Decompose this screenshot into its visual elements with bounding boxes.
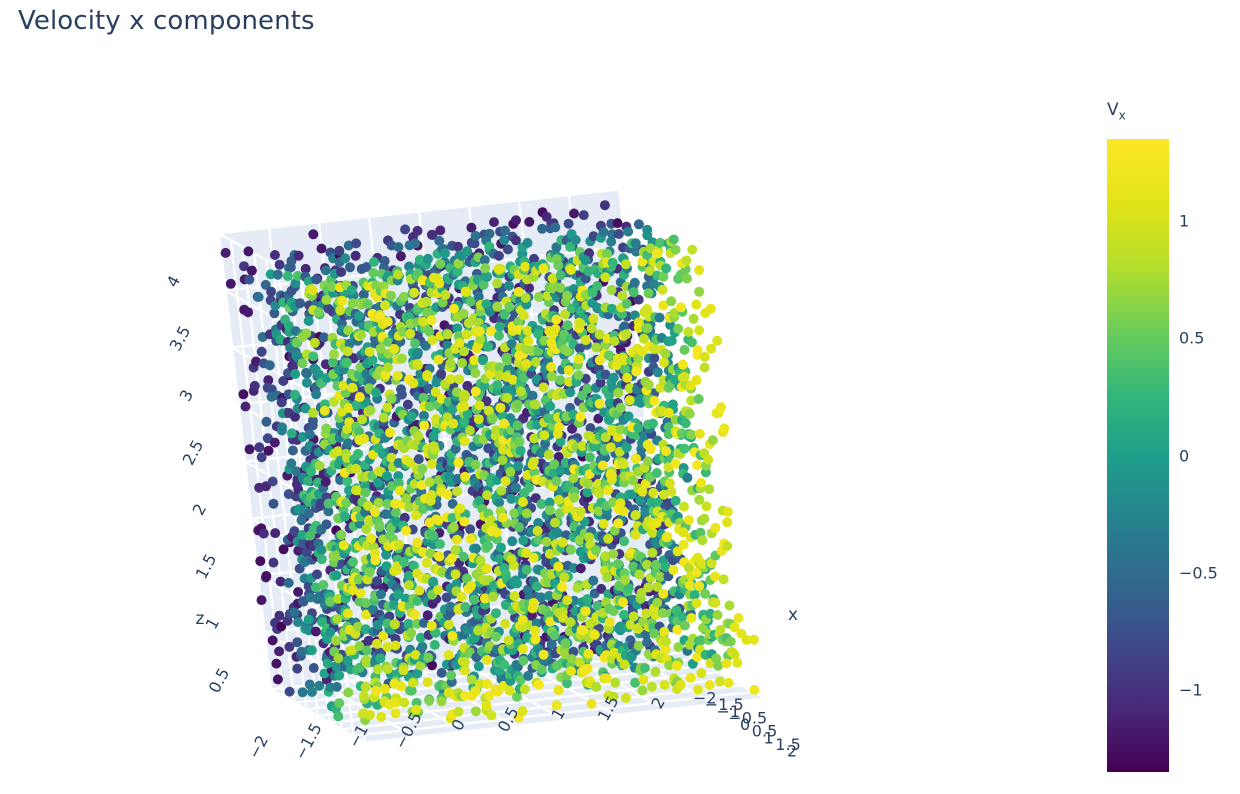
scatter-point	[381, 550, 391, 560]
scatter-point	[631, 510, 641, 520]
scatter-point	[414, 586, 424, 596]
scatter-point	[470, 368, 480, 378]
scatter-point	[391, 508, 401, 518]
scatter-point	[294, 251, 304, 261]
scatter-point	[710, 523, 720, 533]
scatter-point	[485, 229, 495, 239]
scatter-point	[539, 382, 549, 392]
scatter-point	[509, 561, 519, 571]
scatter-point	[396, 251, 406, 261]
scatter-point	[749, 635, 759, 645]
scatter-point	[696, 668, 706, 678]
zaxis-tick-label: 1.5	[192, 551, 221, 582]
zaxis-tick-label: 4	[163, 272, 185, 290]
scatter-point	[410, 238, 420, 248]
scatter-point	[491, 608, 501, 618]
scatter-point	[448, 404, 458, 414]
scatter-point	[591, 343, 601, 353]
scatter-point	[302, 378, 312, 388]
scatter-point	[366, 534, 376, 544]
scatter-point	[284, 578, 294, 588]
scatter-point	[676, 680, 686, 690]
scatter-point	[622, 373, 632, 383]
scatter-point	[471, 544, 481, 554]
scatter-point	[353, 449, 363, 459]
scatter-point	[446, 670, 456, 680]
scatter-point	[598, 461, 608, 471]
scatter-point	[317, 244, 327, 254]
scatter-point	[355, 392, 365, 402]
scatter-point	[564, 365, 574, 375]
scatter-point	[511, 215, 521, 225]
scatter-point	[357, 415, 367, 425]
scatter-point	[466, 534, 476, 544]
scatter-point	[455, 338, 465, 348]
zaxis-tick-label: 2.5	[179, 437, 208, 468]
scatter-point	[347, 383, 357, 393]
scatter-point	[619, 536, 629, 546]
scatter-point	[334, 698, 344, 708]
scatter-point	[365, 710, 375, 720]
scatter-point	[386, 291, 396, 301]
scatter-point	[694, 265, 704, 275]
scatter-point	[503, 244, 513, 254]
scatter-point	[369, 257, 379, 267]
scatter-point	[413, 348, 423, 358]
scatter-point	[444, 650, 454, 660]
scatter-point	[608, 549, 618, 559]
scatter-point	[434, 279, 444, 289]
scatter-point	[521, 359, 531, 369]
scatter-point	[348, 557, 358, 567]
scatter-point	[401, 526, 411, 536]
scatter-point	[365, 567, 375, 577]
scatter-point	[333, 653, 343, 663]
scatter-point	[680, 345, 690, 355]
scatter-point	[435, 539, 445, 549]
scatter-point	[719, 574, 729, 584]
colorbar[interactable]: Vx 10.50−0.5−1	[1107, 100, 1237, 790]
scatter-point	[719, 423, 729, 433]
scatter-point	[529, 457, 539, 467]
scatter-point	[449, 522, 459, 532]
scatter-point	[669, 235, 679, 245]
scatter-point	[510, 591, 520, 601]
scatter-point	[644, 380, 654, 390]
scatter-point	[423, 677, 433, 687]
scatter-point	[434, 355, 444, 365]
scatter-point	[309, 663, 319, 673]
scene-canvas[interactable]: −2−1.5−1−0.500.511.52 −2−1.5−1−0.500.511…	[0, 0, 1080, 794]
scatter-point	[408, 378, 418, 388]
scatter-point	[307, 645, 317, 655]
scatter-point	[646, 444, 656, 454]
xaxis-tick-label: 0	[740, 715, 750, 734]
scatter-point	[588, 314, 598, 324]
scatter-point	[716, 402, 726, 412]
scatter-point	[308, 285, 318, 295]
scatter-point	[423, 610, 433, 620]
scatter-point	[637, 686, 647, 696]
colorbar-gradient[interactable]	[1107, 139, 1169, 772]
scatter-point	[566, 545, 576, 555]
scatter-point	[498, 513, 508, 523]
scatter-point	[643, 456, 653, 466]
scatter-point	[661, 263, 671, 273]
scatter-point	[530, 626, 540, 636]
scatter-point	[283, 271, 293, 281]
scatter-point	[666, 296, 676, 306]
scatter-point	[312, 569, 322, 579]
scatter-point	[661, 349, 671, 359]
zaxis-ticklabels: 0.511.522.533.54	[163, 272, 234, 696]
scatter-point	[459, 401, 469, 411]
scatter-point	[435, 259, 445, 269]
scatter-point	[275, 260, 285, 270]
scatter-point	[545, 401, 555, 411]
scatter-point	[325, 627, 335, 637]
scatter-point	[268, 477, 278, 487]
scatter-point	[318, 580, 328, 590]
scatter-point	[351, 464, 361, 474]
scatter-point	[394, 242, 404, 252]
scatter-point	[243, 307, 253, 317]
scatter-point	[422, 297, 432, 307]
scatter-point	[515, 437, 525, 447]
scatter-point	[706, 304, 716, 314]
scatter-point	[602, 572, 612, 582]
scatter-point	[356, 588, 366, 598]
scatter-point	[678, 360, 688, 370]
scatter-point	[423, 254, 433, 264]
scatter-point	[277, 398, 287, 408]
scatter-point	[533, 526, 543, 536]
scatter-point	[383, 664, 393, 674]
scatter-point	[522, 565, 532, 575]
yaxis-tick-label: −1.5	[291, 720, 326, 763]
scatter-point	[562, 595, 572, 605]
scatter-point	[599, 227, 609, 237]
scatter-point	[340, 253, 350, 263]
scatter-point	[492, 302, 502, 312]
scatter-point	[610, 678, 620, 688]
scatter-point	[469, 355, 479, 365]
scatter-point	[496, 486, 506, 496]
scatter-point	[644, 288, 654, 298]
scatter-point	[563, 320, 573, 330]
scatter-point	[560, 638, 570, 648]
scatter-point	[726, 637, 736, 647]
scatter-point	[422, 558, 432, 568]
scatter-point	[339, 540, 349, 550]
scatter-point	[723, 507, 733, 517]
scatter-point	[531, 634, 541, 644]
scatter-point	[410, 339, 420, 349]
scatter-point	[482, 679, 492, 689]
scatter-point	[298, 358, 308, 368]
scatter-point	[368, 268, 378, 278]
scatter-point	[332, 682, 342, 692]
scatter-point	[603, 534, 613, 544]
zaxis-tick-label: 2	[189, 500, 211, 518]
scatter-point	[539, 650, 549, 660]
scatter-point	[447, 631, 457, 641]
scatter-point	[582, 488, 592, 498]
scatter-point	[356, 330, 366, 340]
scatter-point	[423, 653, 433, 663]
scatter-point	[574, 370, 584, 380]
scatter-point	[694, 325, 704, 335]
scatter-point	[454, 374, 464, 384]
scatter-point	[451, 569, 461, 579]
scatter-point	[682, 473, 692, 483]
scatter-point	[250, 381, 260, 391]
scatter-point	[576, 563, 586, 573]
scatter-point	[266, 287, 276, 297]
scatter-point	[692, 375, 702, 385]
scatter-point	[469, 595, 479, 605]
scatter-point	[496, 543, 506, 553]
scatter-point	[380, 300, 390, 310]
scatter-point	[569, 493, 579, 503]
scatter-point	[385, 428, 395, 438]
scatter-point	[427, 315, 437, 325]
scatter-point	[471, 231, 481, 241]
scatter3d-scene[interactable]: −2−1.5−1−0.500.511.52 −2−1.5−1−0.500.511…	[0, 0, 1080, 794]
scatter-point	[334, 671, 344, 681]
scatter-point	[365, 347, 375, 357]
scatter-point	[452, 486, 462, 496]
colorbar-tick-label: 0.5	[1179, 329, 1204, 348]
scatter-point	[496, 403, 506, 413]
scatter-point	[382, 471, 392, 481]
scatter-point	[631, 367, 641, 377]
scatter-point	[404, 571, 414, 581]
scatter-point	[285, 687, 295, 697]
scatter-point	[322, 519, 332, 529]
scatter-point	[602, 673, 612, 683]
scatter-point	[321, 424, 331, 434]
scatter-point	[261, 571, 271, 581]
scatter-point	[513, 399, 523, 409]
scatter-point	[475, 400, 485, 410]
scatter-point	[372, 639, 382, 649]
scatter-point	[460, 391, 470, 401]
scatter-point	[634, 570, 644, 580]
scatter-point	[375, 520, 385, 530]
scatter-point	[361, 682, 371, 692]
scatter-point	[351, 238, 361, 248]
scatter-point	[489, 217, 499, 227]
scatter-point	[614, 229, 624, 239]
scatter-point	[412, 596, 422, 606]
scatter-point	[655, 313, 665, 323]
scatter-point	[620, 660, 630, 670]
scatter-point	[418, 317, 428, 327]
scatter-point	[588, 576, 598, 586]
scatter-point	[554, 495, 564, 505]
scatter-point	[413, 359, 423, 369]
scatter-point	[459, 517, 469, 527]
scatter-point	[599, 519, 609, 529]
scatter-point	[397, 354, 407, 364]
scatter-point	[425, 477, 435, 487]
scatter-point	[487, 711, 497, 721]
scatter-point	[483, 342, 493, 352]
scatter-point	[257, 595, 267, 605]
scatter-point	[430, 445, 440, 455]
scatter-point	[603, 485, 613, 495]
scatter-point	[329, 349, 339, 359]
scatter-point	[475, 326, 485, 336]
scatter-point	[265, 360, 275, 370]
scatter-point	[689, 314, 699, 324]
scatter-point	[507, 536, 517, 546]
scatter-point	[271, 659, 281, 669]
scatter-point	[257, 347, 267, 357]
scatter-point	[686, 673, 696, 683]
scatter-point	[403, 400, 413, 410]
scatter-point	[622, 299, 632, 309]
scatter-point	[722, 658, 732, 668]
scatter-point	[734, 613, 744, 623]
scatter-point	[647, 548, 657, 558]
scatter-point	[629, 611, 639, 621]
scatter-point	[722, 517, 732, 527]
scatter-point	[244, 275, 254, 285]
scatter-point	[494, 265, 504, 275]
scatter-point	[669, 565, 679, 575]
scatter-point	[642, 225, 652, 235]
scatter-point	[308, 229, 318, 239]
zaxis-title: z	[196, 609, 205, 629]
scatter-point	[573, 583, 583, 593]
scatter-point	[460, 472, 470, 482]
scatter-point	[536, 499, 546, 509]
scatter-point	[710, 572, 720, 582]
scatter-point	[238, 389, 248, 399]
scatter-point	[671, 496, 681, 506]
scatter-point	[616, 403, 626, 413]
scatter-point	[354, 311, 364, 321]
scatter-point	[310, 338, 320, 348]
scatter-point	[390, 641, 400, 651]
colorbar-tick-label: 0	[1179, 446, 1189, 465]
scatter-point	[538, 263, 548, 273]
scatter-point	[631, 454, 641, 464]
scatter-point	[371, 388, 381, 398]
scatter-point	[435, 225, 445, 235]
scatter-point	[336, 530, 346, 540]
zaxis-tick-label: 3	[176, 386, 198, 404]
scatter-point	[495, 322, 505, 332]
scatter-point	[613, 218, 623, 228]
scatter-point	[436, 369, 446, 379]
scatter-point	[376, 589, 386, 599]
scatter-point	[474, 661, 484, 671]
scatter-point	[583, 479, 593, 489]
scatter-point	[531, 400, 541, 410]
scatter-point	[534, 292, 544, 302]
scatter-point	[454, 458, 464, 468]
scatter-point	[336, 267, 346, 277]
scatter-point	[292, 664, 302, 674]
scatter-point	[444, 620, 454, 630]
scatter-point	[504, 281, 514, 291]
scatter-point	[406, 628, 416, 638]
scatter-point	[591, 545, 601, 555]
scatter-point	[604, 350, 614, 360]
scatter-point	[715, 677, 725, 687]
scatter-point	[551, 476, 561, 486]
scatter-point	[700, 363, 710, 373]
scatter-point	[658, 285, 668, 295]
scatter-point	[459, 309, 469, 319]
scatter-point	[587, 699, 597, 709]
scatter-point	[345, 262, 355, 272]
scatter-point	[642, 560, 652, 570]
scatter-point	[608, 258, 618, 268]
scatter-point	[293, 587, 303, 597]
scatter-point	[732, 658, 742, 668]
scatter-point	[724, 678, 734, 688]
scatter-point	[652, 468, 662, 478]
scatter-point	[259, 529, 269, 539]
scatter-point	[605, 617, 615, 627]
scatter-point	[629, 287, 639, 297]
zaxis-tick-label: 1	[202, 614, 224, 632]
scatter-point	[437, 668, 447, 678]
scatter-point	[375, 653, 385, 663]
scatter-point	[488, 414, 498, 424]
scatter-point	[699, 514, 709, 524]
scatter-point	[471, 460, 481, 470]
scatter-point	[425, 548, 435, 558]
scatter-point	[651, 667, 661, 677]
scatter-point	[713, 661, 723, 671]
scatter-point	[514, 522, 524, 532]
scatter-point	[441, 290, 451, 300]
scatter-point	[547, 371, 557, 381]
scatter-point	[694, 287, 704, 297]
scatter-point	[694, 394, 704, 404]
scatter-point	[683, 327, 693, 337]
xaxis-title: x	[788, 605, 798, 625]
scatter-point	[661, 637, 671, 647]
scatter-point	[621, 693, 631, 703]
scatter-point	[658, 589, 668, 599]
scatter-point	[583, 663, 593, 673]
scatter-point	[501, 476, 511, 486]
scatter-point	[460, 436, 470, 446]
colorbar-title-text: V	[1107, 100, 1119, 120]
scatter-point	[290, 390, 300, 400]
scatter-point	[424, 696, 434, 706]
scatter-point	[662, 532, 672, 542]
scatter-point	[480, 263, 490, 273]
scatter-point	[412, 538, 422, 548]
scatter-point	[405, 329, 415, 339]
scatter-point	[619, 459, 629, 469]
scatter-point	[460, 602, 470, 612]
scatter-point	[712, 336, 722, 346]
scatter-point	[408, 678, 418, 688]
scatter-point	[460, 666, 470, 676]
scatter-point	[524, 483, 534, 493]
scatter-point	[292, 637, 302, 647]
scatter-point	[666, 487, 676, 497]
scatter-point	[621, 259, 631, 269]
